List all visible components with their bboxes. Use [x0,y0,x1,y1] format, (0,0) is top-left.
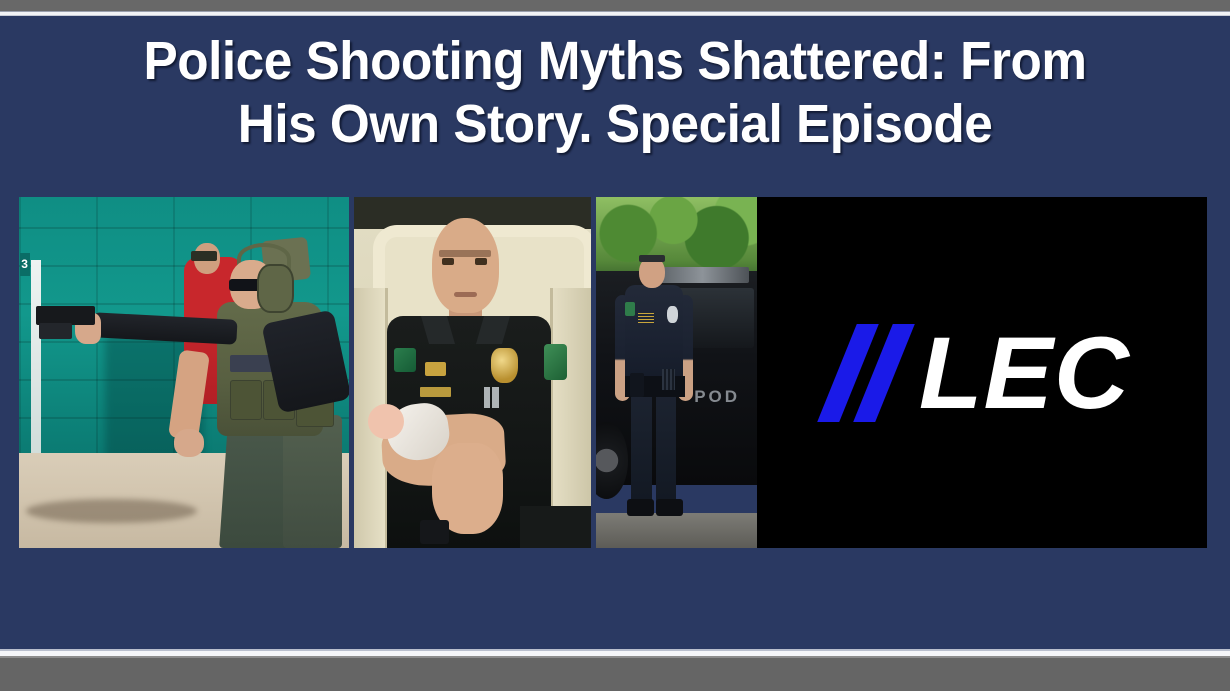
officer3-service-bars [638,313,654,324]
officer2-eye-right [475,258,487,265]
officer2-pens-icon [484,387,498,408]
baby-head [368,404,404,439]
officer3-mag-holder [662,369,675,390]
lec-wordmark: LEC [918,322,1129,424]
window-bottom-chrome-band [0,658,1230,691]
lane-marker-number: 3 [20,253,30,276]
background-person-sunglasses-icon [191,251,217,260]
lec-logo: LEC [757,197,1207,548]
officer2-name-tag [420,387,451,398]
shooter-mag-pouch-1 [230,380,262,421]
officer2-head [432,218,498,313]
wall-white-stripe [31,260,42,464]
double-slash-icon [837,324,895,422]
ear-protection-icon [257,264,294,314]
officer2-duty-belt [520,506,591,548]
officer2-shoulder-patch-right [544,344,568,379]
officer2-shoulder-patch-left [394,348,415,373]
weapon-light-icon [39,323,72,339]
image-strip: 3 [19,197,1207,548]
police-vehicle-lettering: POD [694,387,752,419]
officer3-sunglasses-icon [639,255,665,262]
officer3-leg-right [656,394,677,510]
slide-title: Police Shooting Myths Shattered: From Hi… [31,30,1200,156]
pistol-icon [36,306,95,325]
officer3-belt-pouch [630,373,644,398]
officer2-brow [439,250,491,258]
window-top-chrome-band [0,0,1230,11]
officer2-eye-left [442,258,454,265]
officer3-boot-left [627,499,654,517]
police-light-bar [656,267,749,283]
officer3-boot-right [656,499,683,517]
slide-canvas: Police Shooting Myths Shattered: From Hi… [0,16,1230,649]
officer2-wristwatch-icon [420,520,448,545]
lec-logo-panel[interactable]: LEC [757,197,1207,548]
pavement [596,513,757,548]
officer3-badge-icon [667,306,678,324]
officer-at-cruiser-photo[interactable]: POD [596,197,757,548]
officer3-leg-left [631,394,652,510]
range-training-photo[interactable]: 3 [19,197,349,548]
officer2-mouth [454,292,478,297]
officer-holding-baby-photo[interactable] [354,197,591,548]
officer2-wings-pin-icon [425,362,446,376]
officer2-badge-icon [491,348,517,383]
presentation-window: Police Shooting Myths Shattered: From Hi… [0,0,1230,691]
officer3-shoulder-patch [625,302,635,316]
shooter-support-hand [174,429,204,457]
